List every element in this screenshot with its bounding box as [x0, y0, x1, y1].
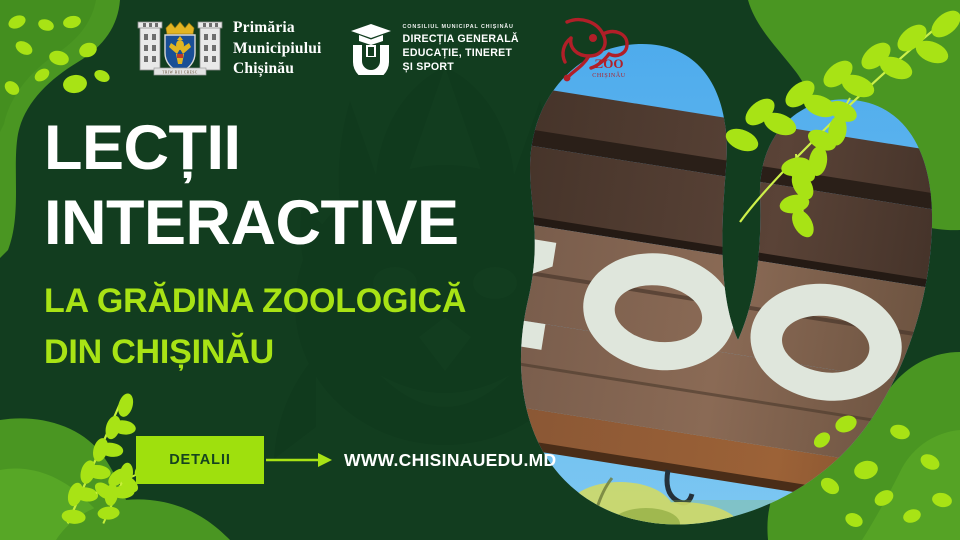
primaria-line-3: Chișinău: [233, 59, 322, 79]
dges-logo-text: CONSILIUL MUNICIPAL CHIȘINĂU DIRECȚIA GE…: [403, 24, 519, 74]
poster-canvas: TRIW BUI CRESC Primăria Municipiului Chi…: [0, 0, 960, 540]
website-url[interactable]: WWW.CHISINAUEDU.MD: [344, 450, 556, 471]
subheadline: LA GRĂDINA ZOOLOGICĂ DIN CHIȘINĂU: [44, 284, 564, 370]
dges-line-3: ȘI SPORT: [403, 60, 519, 74]
dges-line-2: EDUCAȚIE, TINERET: [403, 46, 519, 60]
svg-text:ZOO: ZOO: [594, 56, 623, 71]
chisinau-coat-of-arms-icon: TRIW BUI CRESC: [136, 18, 224, 80]
dges-logo: CONSILIUL MUNICIPAL CHIȘINĂU DIRECȚIA GE…: [348, 23, 519, 75]
svg-text:TRIW BUI CRESC: TRIW BUI CRESC: [162, 70, 198, 74]
headline-line-1: LECȚII: [44, 113, 241, 183]
arrow-right-icon: [266, 450, 338, 470]
page-title: LECȚII INTERACTIVE: [44, 118, 564, 254]
primaria-line-1: Primăria: [233, 18, 322, 38]
primaria-logo-text: Primăria Municipiului Chișinău: [233, 18, 322, 79]
detalii-button[interactable]: DETALII: [136, 436, 264, 484]
dges-line-1: DIRECȚIA GENERALĂ: [403, 32, 519, 46]
subheadline-line-2: DIN CHIȘINĂU: [44, 335, 564, 370]
dges-emblem-icon: [348, 23, 394, 75]
headline-block: LECȚII INTERACTIVE LA GRĂDINA ZOOLOGICĂ …: [44, 118, 564, 370]
headline-line-2: INTERACTIVE: [44, 193, 564, 255]
primaria-line-2: Municipiului: [233, 39, 322, 59]
dges-kicker: CONSILIUL MUNICIPAL CHIȘINĂU: [403, 24, 519, 30]
subheadline-line-1: LA GRĂDINA ZOOLOGICĂ: [44, 282, 466, 320]
zoo-chisinau-logo-icon: ZOO CHIȘINĂU: [553, 12, 645, 86]
primaria-logo: TRIW BUI CRESC Primăria Municipiului Chi…: [136, 18, 322, 80]
cta-block: DETALII WWW.CHISINAUEDU.MD: [136, 436, 556, 484]
logo-bar: TRIW BUI CRESC Primăria Municipiului Chi…: [0, 10, 960, 88]
svg-text:CHIȘINĂU: CHIȘINĂU: [592, 71, 626, 79]
